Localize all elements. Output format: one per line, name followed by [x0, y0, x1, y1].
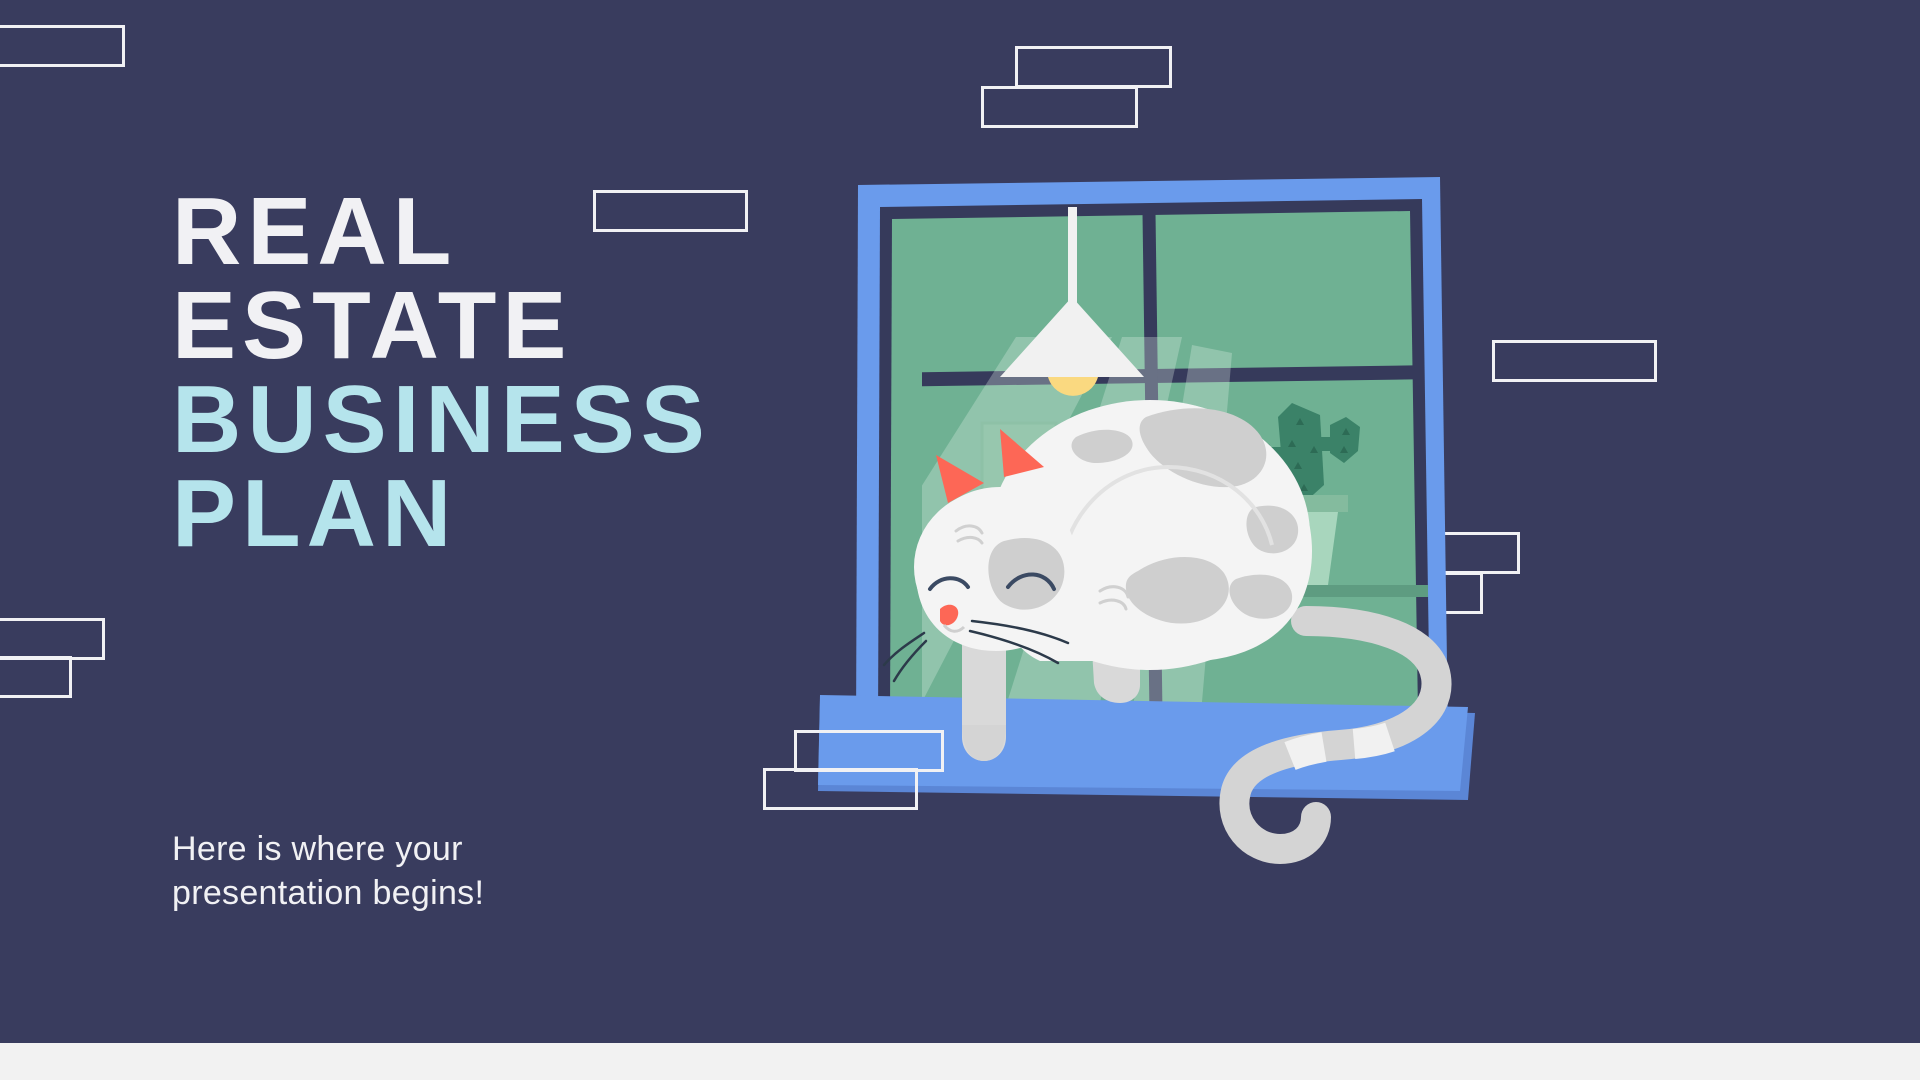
- subtitle-text: Here is where your presentation begins!: [172, 828, 552, 915]
- presentation-slide-root: REAL ESTATE BUSINESS PLAN Here is where …: [0, 0, 1920, 1080]
- slide-canvas: REAL ESTATE BUSINESS PLAN Here is where …: [0, 0, 1920, 1043]
- title-line-2: ESTATE: [172, 279, 772, 373]
- deco-rect-bottom-b: [763, 768, 918, 810]
- window-cat-illustration: [900, 185, 1720, 1015]
- deco-rect-left-low-a: [0, 618, 105, 660]
- bottom-strip: [0, 1043, 1920, 1080]
- deco-rect-left-low-b: [0, 656, 72, 698]
- deco-rect-top-right-b: [981, 86, 1138, 128]
- title-line-1: REAL: [172, 185, 772, 279]
- deco-rect-top-right-a: [1015, 46, 1172, 88]
- title-line-4: PLAN: [172, 467, 772, 561]
- deco-rect-top-left: [0, 25, 125, 67]
- title-block: REAL ESTATE BUSINESS PLAN: [172, 185, 772, 561]
- title-line-3: BUSINESS: [172, 373, 772, 467]
- deco-rect-bottom-a: [794, 730, 944, 772]
